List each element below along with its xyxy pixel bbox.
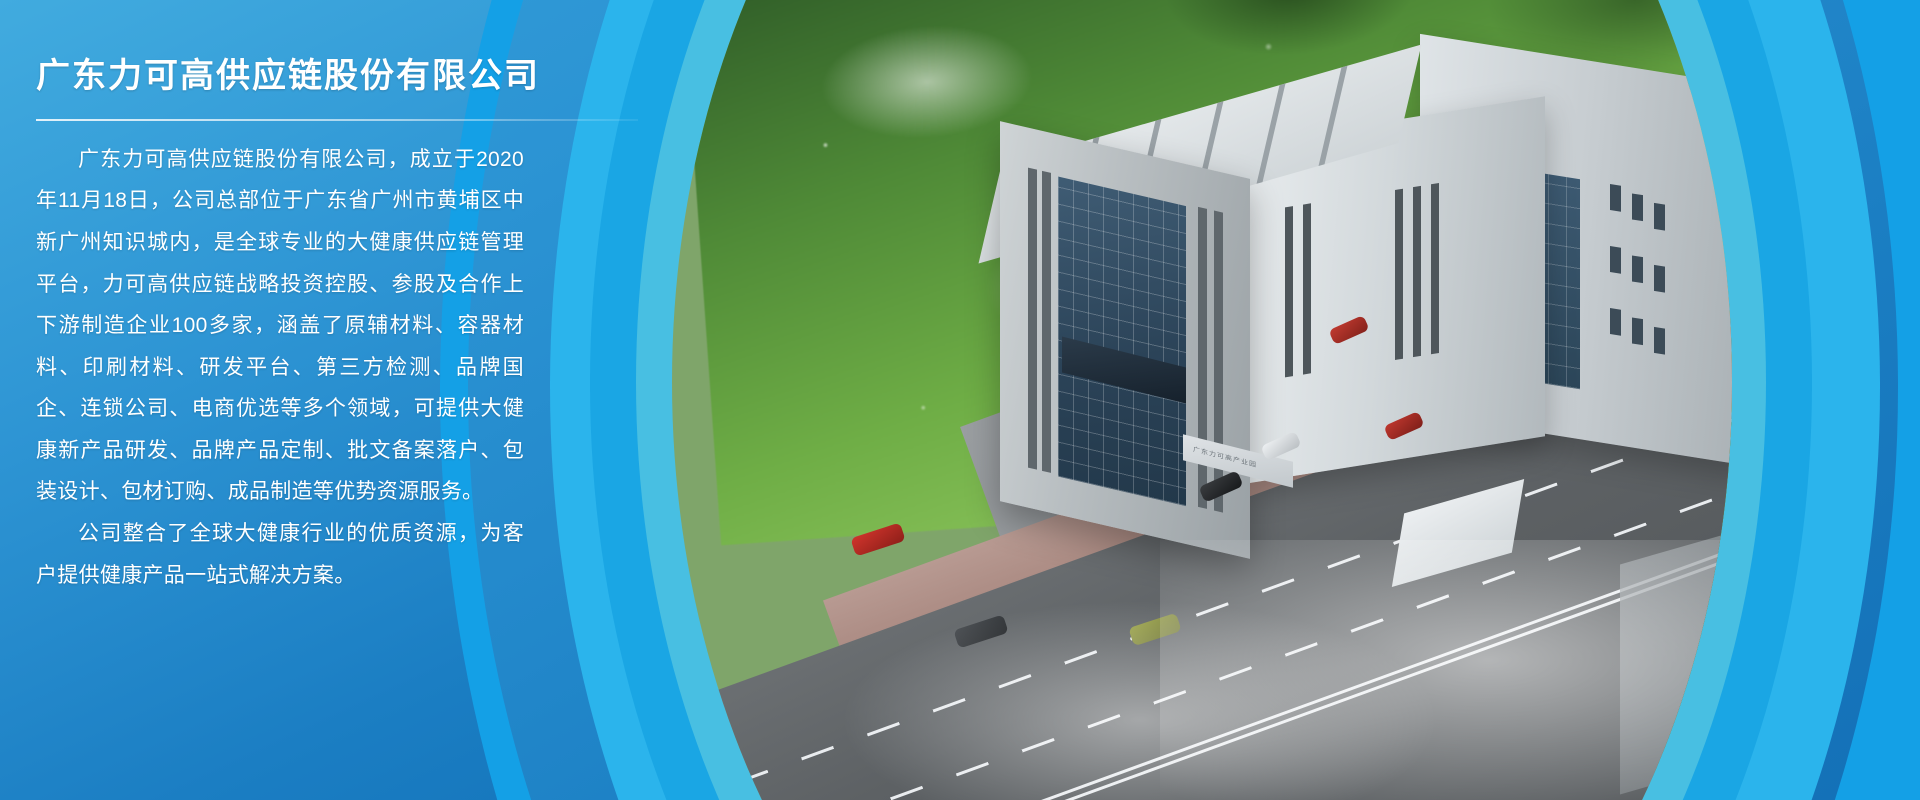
window-slit xyxy=(1654,327,1665,355)
company-description: 广东力可高供应链股份有限公司，成立于2020年11月18日，公司总部位于广东省广… xyxy=(36,139,640,596)
facade-pilaster xyxy=(1028,168,1037,470)
title-divider xyxy=(36,119,638,121)
facade-pilaster xyxy=(1042,171,1051,473)
description-paragraph-2: 公司整合了全球大健康行业的优质资源，为客户提供健康产品一站式解决方案。 xyxy=(36,513,524,596)
roof-beam xyxy=(1319,66,1348,166)
atmospheric-haze-bottom xyxy=(840,600,1440,800)
window-slit xyxy=(1632,255,1643,283)
page-title: 广东力可高供应链股份有限公司 xyxy=(36,56,640,97)
company-profile-banner: 广东力可高产业园 广东力可高供应链股份有限公司 广东力可高供应链股份有限公司，成… xyxy=(0,0,1920,800)
description-paragraph-1: 广东力可高供应链股份有限公司，成立于2020年11月18日，公司总部位于广东省广… xyxy=(36,139,524,513)
campus-photo: 广东力可高产业园 xyxy=(672,0,1732,800)
facade-slit xyxy=(1303,203,1311,374)
facade-slit xyxy=(1431,183,1439,354)
company-profile-text-column: 广东力可高供应链股份有限公司 广东力可高供应链股份有限公司，成立于2020年11… xyxy=(0,0,640,800)
aerial-render-scene: 广东力可高产业园 xyxy=(672,0,1732,800)
roof-beam xyxy=(1257,83,1286,183)
campus-photo-circular-mask: 广东力可高产业园 xyxy=(672,0,1732,800)
facade-slit xyxy=(1285,206,1293,377)
window-slit xyxy=(1632,193,1643,221)
window-slit xyxy=(1632,317,1643,345)
facade-slit xyxy=(1413,186,1421,357)
window-slit xyxy=(1610,246,1621,274)
window-slit xyxy=(1654,265,1665,293)
facade-slit xyxy=(1395,189,1403,360)
window-slit xyxy=(1610,184,1621,212)
window-slit xyxy=(1654,203,1665,231)
window-slit xyxy=(1610,308,1621,336)
